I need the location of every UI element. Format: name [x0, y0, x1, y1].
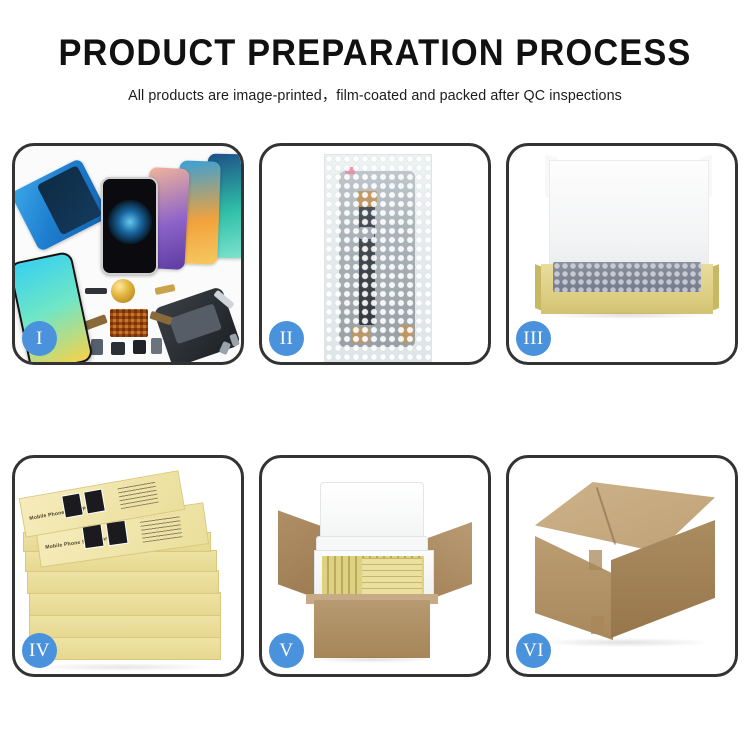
bubble-texture-icon: [325, 155, 431, 361]
retail-box-thumbnail: [105, 520, 128, 547]
retail-box-thumbnail: [61, 493, 84, 519]
spare-part-icon: [111, 342, 125, 355]
carton-front-icon: [314, 600, 430, 658]
page-subtitle: All products are image-printed，film-coat…: [8, 84, 743, 105]
process-step-panel-1: I: [12, 143, 244, 365]
white-box-lid-icon: [549, 160, 709, 272]
carton-tape-icon: [589, 550, 602, 570]
spare-part-icon: [154, 284, 175, 295]
process-step-panel-2: II: [259, 143, 491, 365]
step-badge-2: II: [269, 321, 304, 356]
process-step-panel-5: V: [259, 455, 491, 677]
process-step-panel-6: VI: [506, 455, 738, 677]
box-shadow-icon: [545, 312, 709, 319]
bubble-wrap-fill-icon: [553, 262, 701, 292]
page-title: PRODUCT PREPARATION PROCESS: [26, 34, 724, 71]
gold-coil-icon: [111, 279, 135, 303]
chip-grid-icon: [110, 309, 148, 337]
step-badge-6: VI: [516, 633, 551, 668]
retail-box-layer: [29, 592, 221, 616]
box-stack-shadow-icon: [31, 663, 217, 671]
packed-retail-boxes-icon: [362, 558, 422, 594]
process-step-panel-3: III: [506, 143, 738, 365]
retail-box-layer: [29, 636, 221, 660]
carton-shadow-icon: [539, 638, 711, 647]
carton-right-flap-icon: [428, 522, 472, 600]
spare-part-icon: [151, 338, 162, 354]
page-header: PRODUCT PREPARATION PROCESS All products…: [0, 0, 750, 105]
step-badge-3: III: [516, 321, 551, 356]
process-step-panel-4: Mobile Phone Spare Parts Mobile Phone Sp…: [12, 455, 244, 677]
black-phone-display-icon: [101, 177, 158, 275]
product-preparation-page: PRODUCT PREPARATION PROCESS All products…: [0, 0, 750, 750]
retail-box-layer: [29, 614, 221, 638]
retail-box-layer: [27, 570, 219, 594]
step-badge-4: IV: [22, 633, 57, 668]
spare-part-icon: [85, 288, 107, 294]
blue-screen-protector-icon: [15, 158, 110, 252]
bubble-wrap-bag-icon: [324, 154, 432, 362]
retail-box-thumbnail: [83, 489, 106, 515]
spare-part-icon: [91, 339, 103, 355]
spare-part-icon: [133, 340, 146, 354]
process-step-grid: I II: [12, 143, 738, 731]
carton-shadow-icon: [306, 656, 438, 663]
step-badge-1: I: [22, 321, 57, 356]
carton-tape-icon: [591, 616, 604, 634]
step-badge-5: V: [269, 633, 304, 668]
